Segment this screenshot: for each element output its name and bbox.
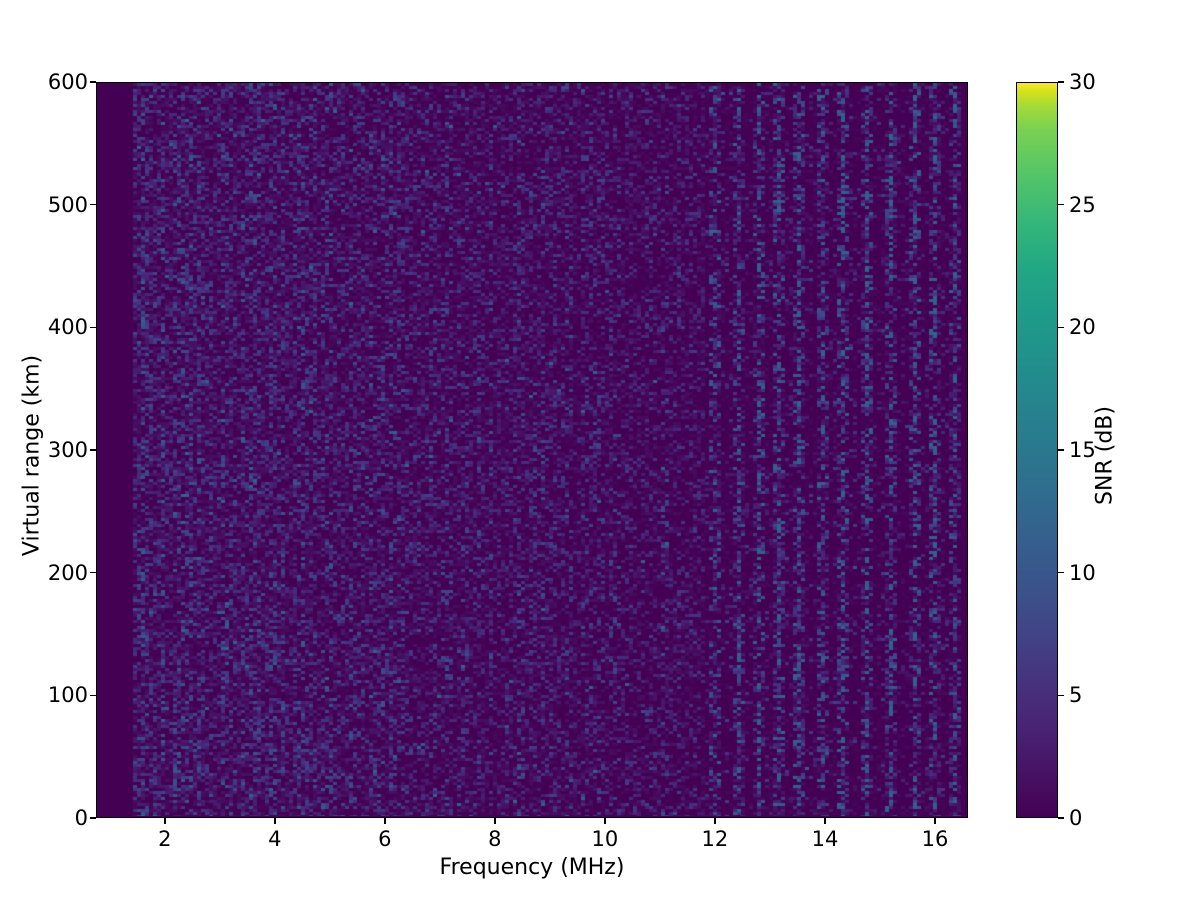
colorbar-tick-label: 5 [1069,683,1082,707]
colorbar-tick-mark [1058,449,1064,451]
colorbar-tick-mark [1058,695,1064,697]
y-axis-label: Virtual range (km) [20,88,45,824]
y-tick-mark [90,327,96,329]
x-axis-label: Frequency (MHz) [96,855,968,880]
x-tick-label: 14 [795,827,855,851]
y-tick-mark [90,817,96,819]
y-tick-mark [90,695,96,697]
y-tick-label: 400 [48,315,88,339]
colorbar-tick-label: 0 [1069,806,1082,830]
heatmap-plot-area[interactable] [96,82,968,818]
x-tick-label: 16 [905,827,965,851]
snr-colorbar[interactable] [1016,82,1058,818]
x-tick-mark [384,818,386,824]
y-tick-label: 300 [48,438,88,462]
x-tick-mark [274,818,276,824]
y-tick-mark [90,572,96,574]
y-tick-label: 0 [75,806,88,830]
y-tick-mark [90,81,96,83]
x-tick-label: 8 [465,827,525,851]
y-tick-label: 200 [48,561,88,585]
x-tick-mark [824,818,826,824]
x-tick-label: 6 [355,827,415,851]
colorbar-tick-mark [1058,817,1064,819]
x-tick-mark [604,818,606,824]
x-tick-mark [494,818,496,824]
x-tick-mark [164,818,166,824]
colorbar-label: SNR (dB) [1093,88,1118,824]
x-tick-label: 12 [685,827,745,851]
x-tick-label: 4 [245,827,305,851]
y-tick-label: 600 [48,70,88,94]
x-tick-label: 2 [135,827,195,851]
y-tick-mark [90,204,96,206]
colorbar-tick-mark [1058,204,1064,206]
colorbar-tick-mark [1058,81,1064,83]
y-tick-label: 500 [48,193,88,217]
colorbar-tick-mark [1058,572,1064,574]
x-tick-mark [714,818,716,824]
y-tick-mark [90,449,96,451]
colorbar-tick-mark [1058,327,1064,329]
ionogram-heatmap[interactable] [97,83,966,816]
y-tick-label: 100 [48,683,88,707]
x-tick-label: 10 [575,827,635,851]
ionogram-figure: IRF Kiruna Ionosonde KI167 2025-12-07 22… [0,0,1200,900]
x-tick-mark [934,818,936,824]
